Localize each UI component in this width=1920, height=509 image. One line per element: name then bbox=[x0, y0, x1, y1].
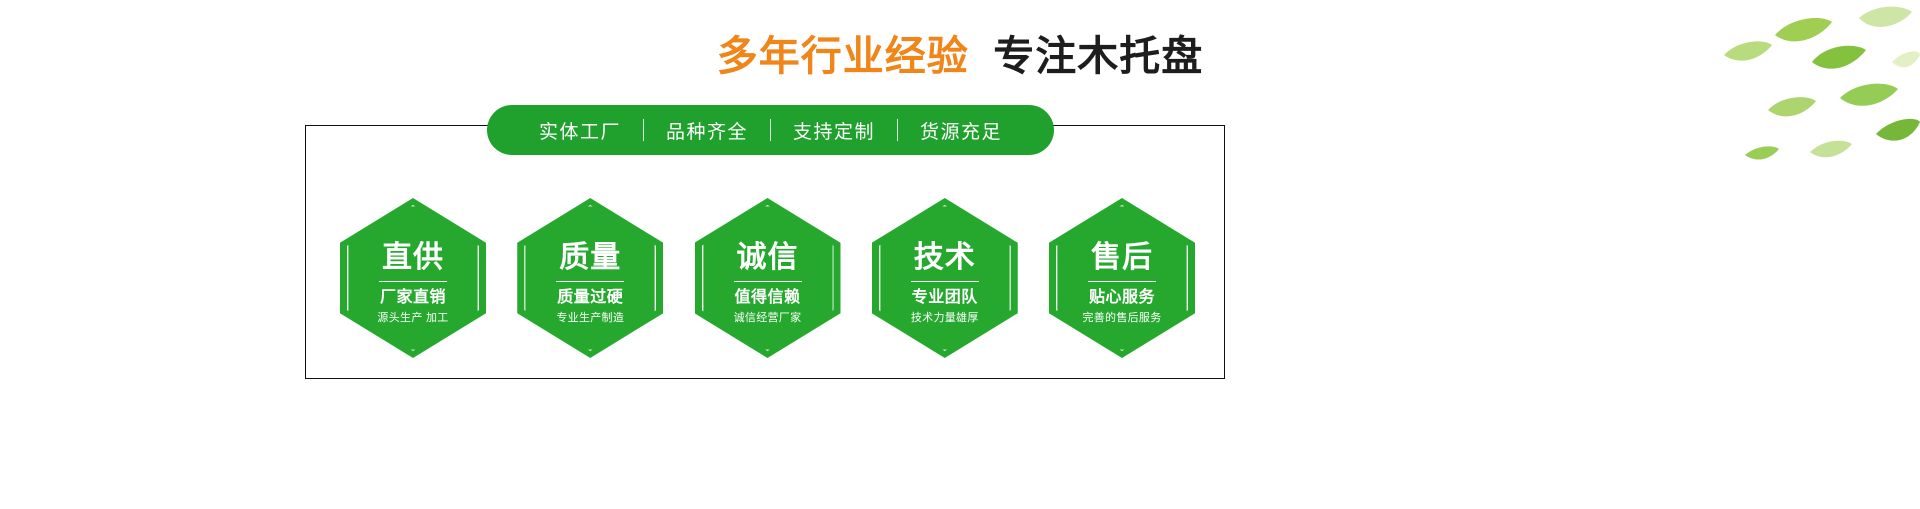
page-title: 多年行业经验 专注木托盘 bbox=[0, 36, 1920, 77]
feature-hexagon-3[interactable]: 技术 专业团队 技术力量雄厚 bbox=[872, 198, 1018, 358]
hexagon-subtitle: 贴心服务 bbox=[1089, 288, 1155, 308]
hexagon-subtitle: 厂家直销 bbox=[380, 288, 446, 308]
banner-root: 多年行业经验 专注木托盘 实体工厂 品种齐全 支持定制 货源充足 直供 厂家直销… bbox=[0, 0, 1920, 509]
hexagon-divider bbox=[379, 281, 447, 283]
hexagon-divider bbox=[911, 281, 979, 283]
hexagon-caption: 诚信经营厂家 bbox=[734, 312, 802, 325]
hexagon-title: 质量 bbox=[559, 242, 621, 274]
feature-pill-bar: 实体工厂 品种齐全 支持定制 货源充足 bbox=[487, 105, 1054, 155]
pill-item-2[interactable]: 支持定制 bbox=[771, 117, 897, 144]
pill-item-1[interactable]: 品种齐全 bbox=[644, 117, 770, 144]
hexagon-divider bbox=[1088, 281, 1156, 283]
hexagon-caption: 技术力量雄厚 bbox=[911, 312, 979, 325]
feature-hexagon-0[interactable]: 直供 厂家直销 源头生产 加工 bbox=[340, 198, 486, 358]
hexagon-divider bbox=[556, 281, 624, 283]
hexagon-title: 技术 bbox=[914, 242, 976, 274]
feature-hexagon-2[interactable]: 诚信 值得信赖 诚信经营厂家 bbox=[695, 198, 841, 358]
hexagon-divider bbox=[734, 281, 802, 283]
hexagon-subtitle: 专业团队 bbox=[912, 288, 978, 308]
pill-item-0[interactable]: 实体工厂 bbox=[517, 117, 643, 144]
pill-item-3[interactable]: 货源充足 bbox=[898, 117, 1024, 144]
hexagon-subtitle: 值得信赖 bbox=[734, 288, 800, 308]
hexagon-caption: 专业生产制造 bbox=[556, 312, 624, 325]
hexagon-subtitle: 质量过硬 bbox=[557, 288, 623, 308]
title-accent-text: 多年行业经验 bbox=[717, 36, 969, 77]
hexagon-caption: 源头生产 加工 bbox=[377, 312, 448, 325]
hexagon-caption: 完善的售后服务 bbox=[1082, 312, 1161, 325]
hexagon-title: 直供 bbox=[382, 242, 444, 274]
feature-hexagon-row: 直供 厂家直销 源头生产 加工 质量 质量过硬 专业生产制造 诚信 值得信赖 bbox=[340, 198, 1195, 358]
feature-hexagon-1[interactable]: 质量 质量过硬 专业生产制造 bbox=[517, 198, 663, 358]
title-main-text: 专注木托盘 bbox=[993, 36, 1203, 77]
feature-hexagon-4[interactable]: 售后 贴心服务 完善的售后服务 bbox=[1049, 198, 1195, 358]
hexagon-title: 诚信 bbox=[737, 242, 799, 274]
hexagon-title: 售后 bbox=[1091, 242, 1153, 274]
